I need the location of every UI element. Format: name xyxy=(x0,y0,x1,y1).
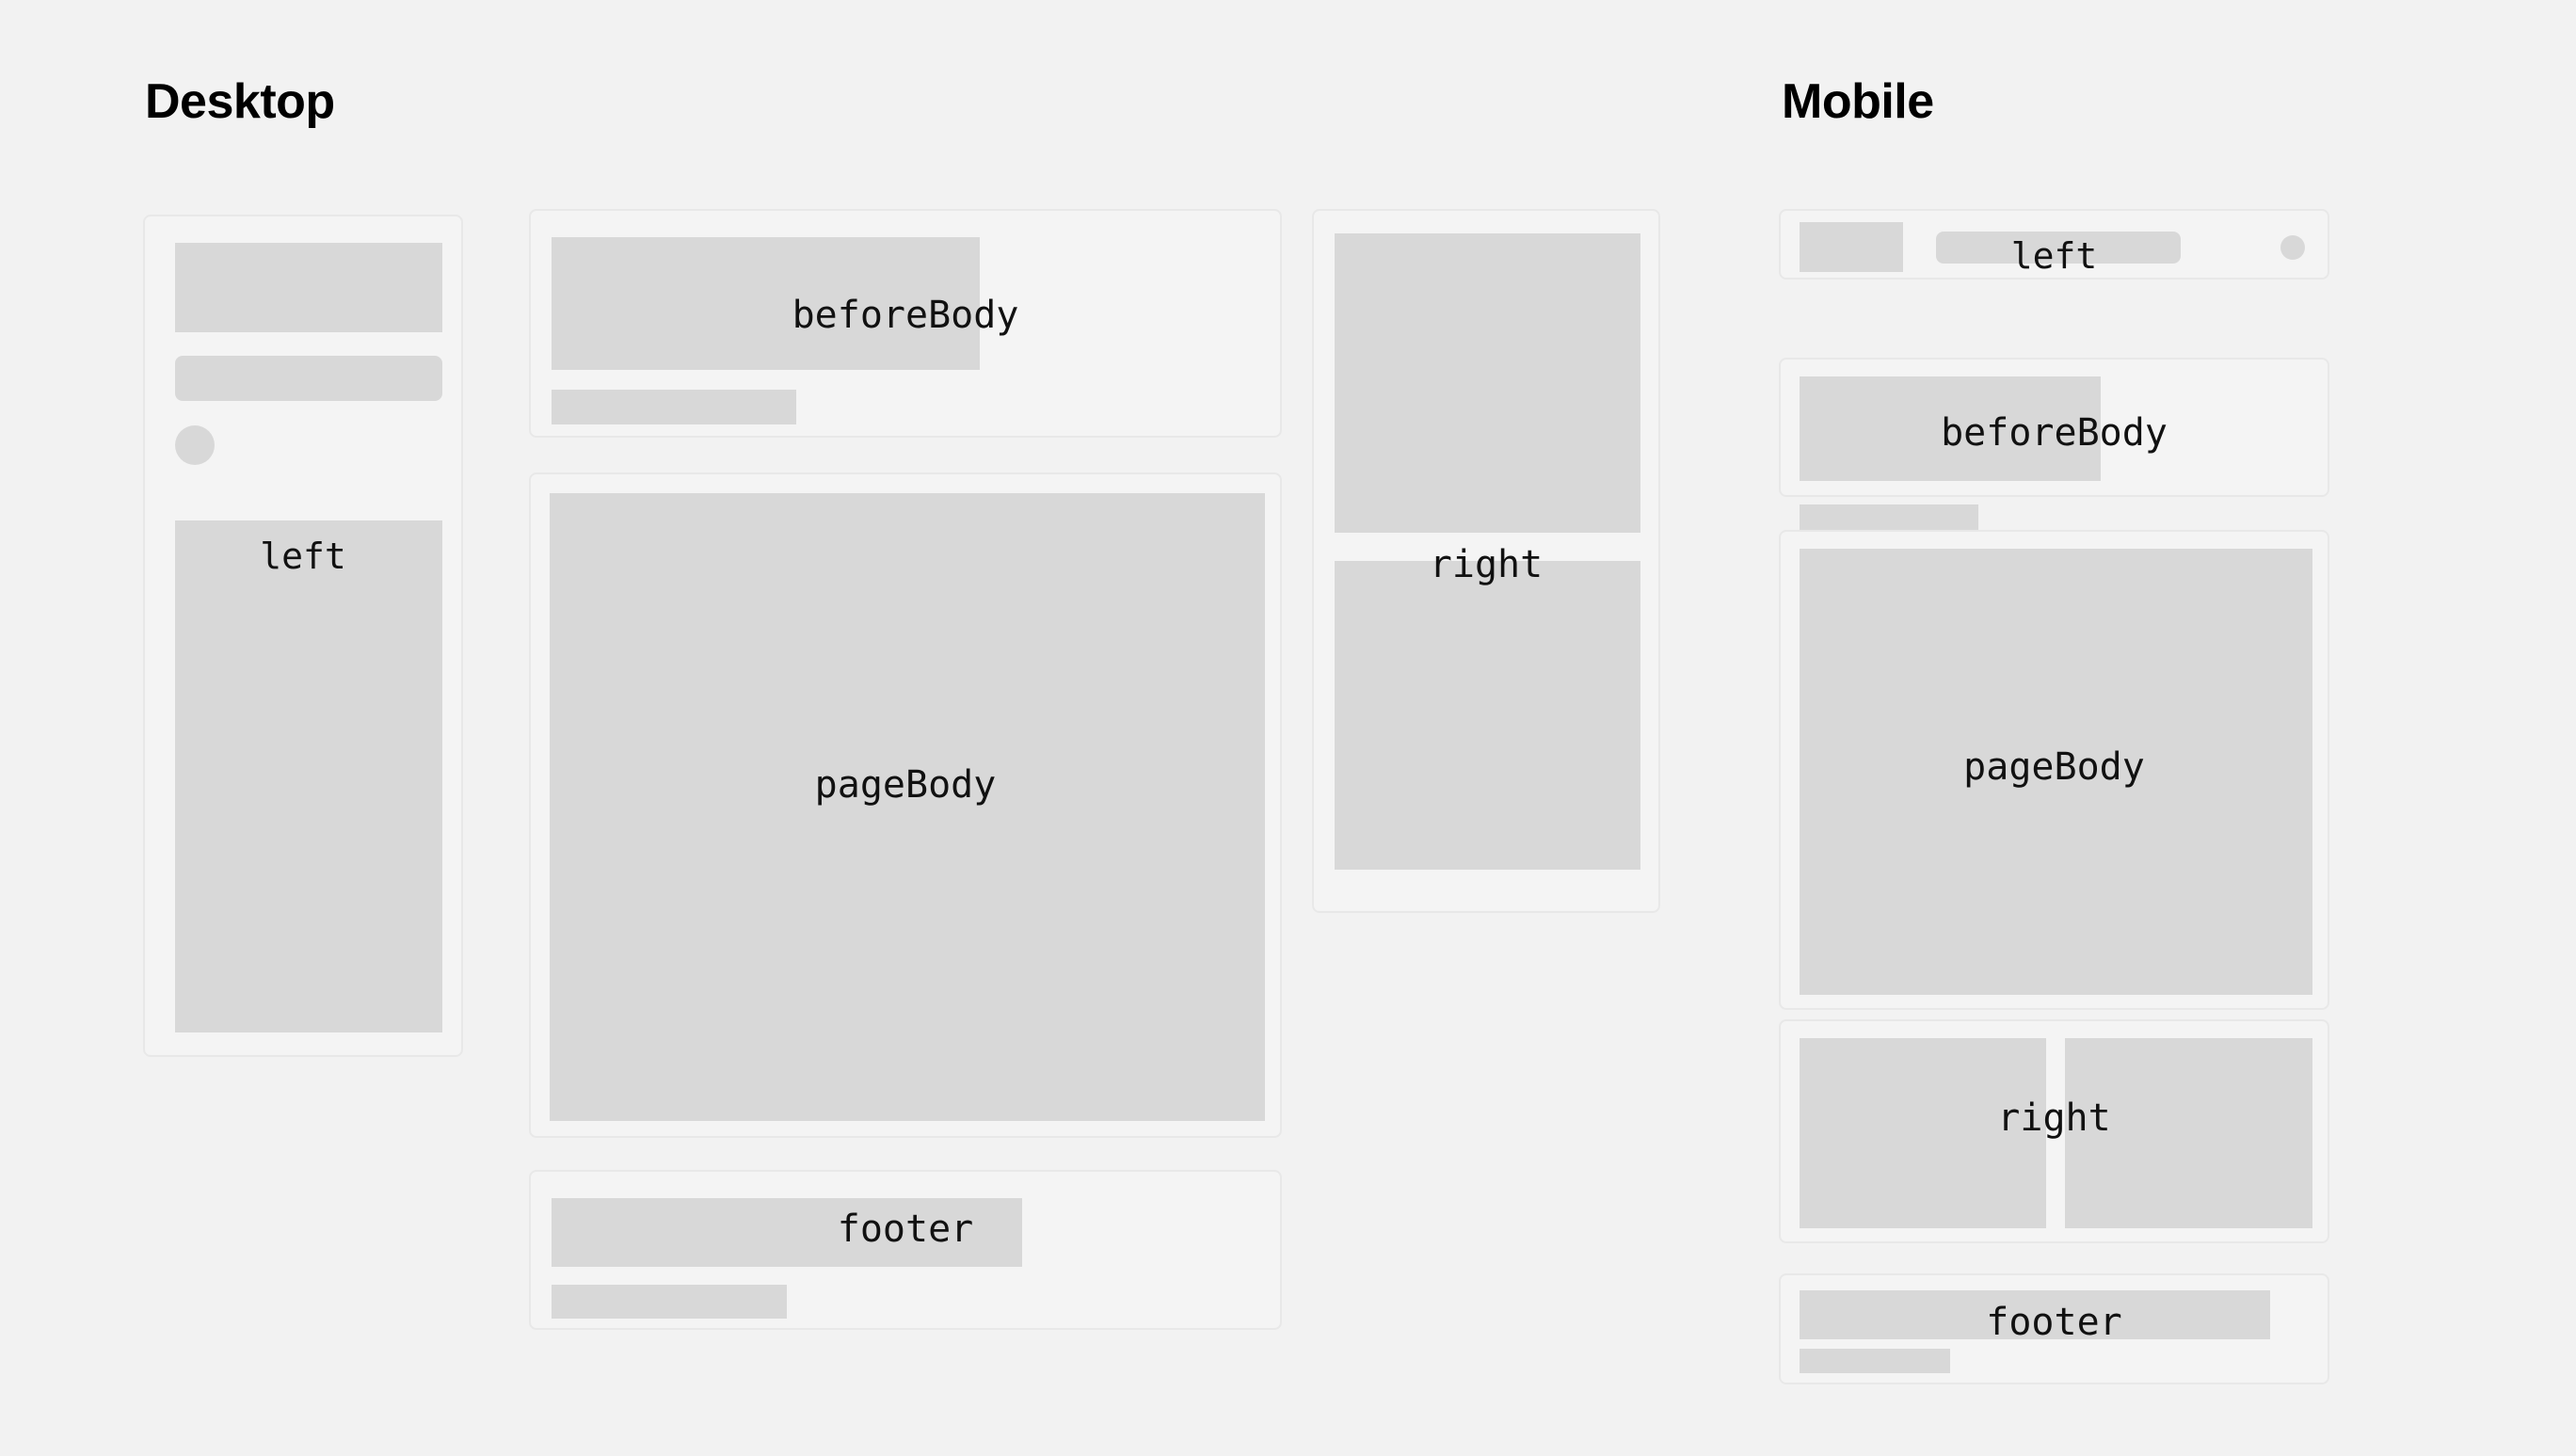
placeholder-block-large xyxy=(550,493,1265,1121)
mobile-left-card[interactable] xyxy=(1779,209,2329,280)
placeholder-bar xyxy=(552,390,796,424)
mobile-before-body-card[interactable] xyxy=(1779,358,2329,497)
placeholder-block xyxy=(552,1198,1022,1267)
placeholder-block xyxy=(175,243,442,332)
placeholder-block-bottom xyxy=(1335,561,1640,870)
wireframe-canvas: Desktop left beforeBody pageBody footer … xyxy=(0,0,2576,1456)
placeholder-avatar-circle xyxy=(175,425,215,465)
placeholder-block-top xyxy=(1335,233,1640,533)
desktop-left-rail-card[interactable] xyxy=(143,215,463,1057)
placeholder-bar xyxy=(1800,504,1978,531)
placeholder-block xyxy=(1800,376,2101,481)
placeholder-block-left xyxy=(1800,1038,2046,1228)
placeholder-block-tall xyxy=(175,520,442,1032)
placeholder-block-right xyxy=(2065,1038,2312,1228)
mobile-page-body-card[interactable] xyxy=(1779,530,2329,1010)
placeholder-block xyxy=(1800,1290,2270,1339)
placeholder-avatar-circle xyxy=(2280,235,2305,260)
desktop-footer-card[interactable] xyxy=(529,1170,1282,1330)
desktop-section-heading: Desktop xyxy=(145,77,335,126)
desktop-before-body-card[interactable] xyxy=(529,209,1282,438)
placeholder-block-large xyxy=(1800,549,2312,995)
placeholder-bar xyxy=(1936,232,2181,264)
placeholder-block xyxy=(1800,222,1903,272)
mobile-right-card[interactable] xyxy=(1779,1019,2329,1243)
desktop-right-rail-card[interactable] xyxy=(1312,209,1660,913)
mobile-section-heading: Mobile xyxy=(1782,77,1934,126)
placeholder-block xyxy=(552,237,980,370)
mobile-footer-card[interactable] xyxy=(1779,1273,2329,1384)
placeholder-bar xyxy=(1800,1349,1950,1373)
placeholder-bar xyxy=(552,1285,787,1319)
placeholder-bar xyxy=(175,356,442,401)
desktop-page-body-card[interactable] xyxy=(529,472,1282,1138)
